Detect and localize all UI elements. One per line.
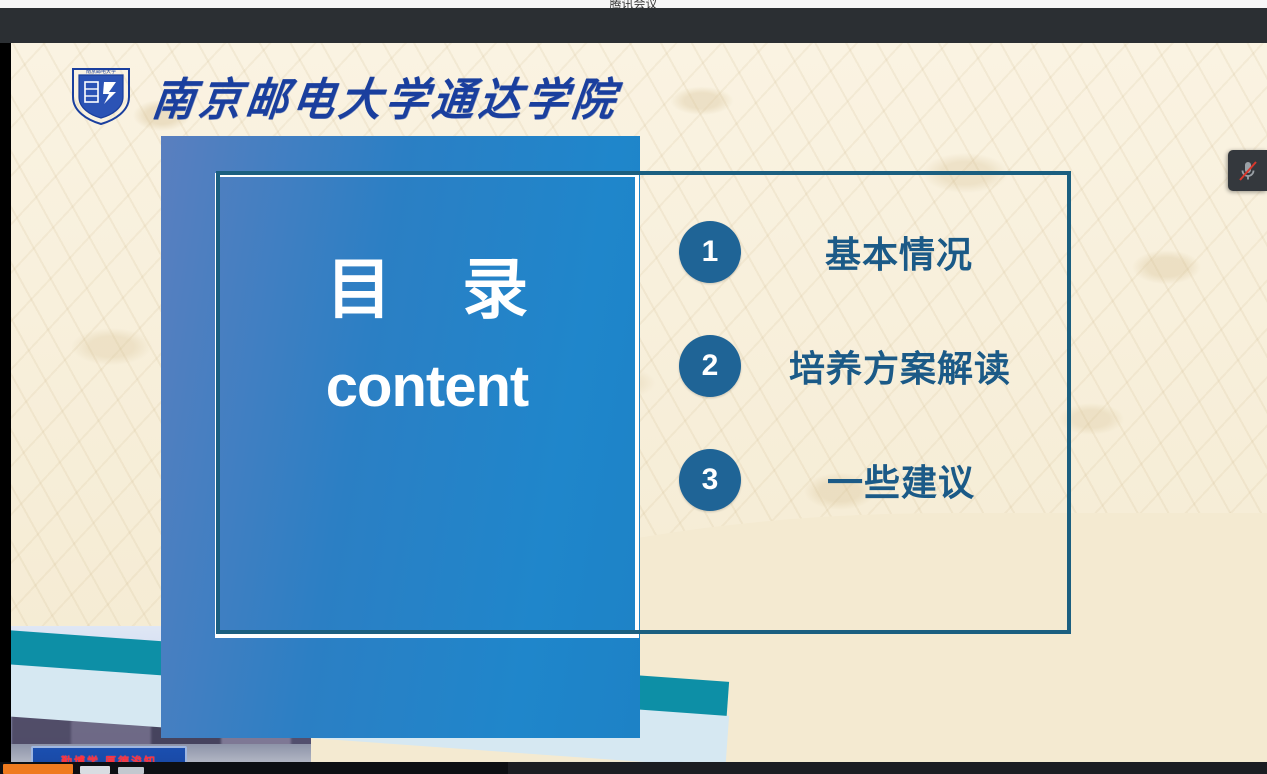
toc-item-1-number: 1 <box>679 221 741 283</box>
toc-item-1-label: 基本情况 <box>825 226 973 278</box>
toc-list: 1 基本情况 2 培养方案解读 3 一些建议 <box>679 195 1079 537</box>
university-crest-icon: 南京邮电大学 <box>63 65 139 127</box>
taskbar-app-icon-3[interactable] <box>118 767 144 774</box>
toc-item-2[interactable]: 2 培养方案解读 <box>679 309 1079 423</box>
toc-item-2-number: 2 <box>679 335 741 397</box>
toc-item-1[interactable]: 1 基本情况 <box>679 195 1079 309</box>
presentation-slide[interactable]: 勤博学 厚德浚知 笃求实 进取创新 严谨 笃学 求是 力行 南京邮电大学 南京邮… <box>11 43 1267 766</box>
taskbar-strip <box>0 762 508 774</box>
app-title: 腾讯会议 <box>0 0 1267 8</box>
app-titlebar: 腾讯会议 <box>0 0 1267 8</box>
svg-text:南京邮电大学: 南京邮电大学 <box>86 68 116 75</box>
microphone-muted-icon <box>1237 159 1259 183</box>
taskbar-app-icon-2[interactable] <box>80 766 110 774</box>
toc-item-3-label: 一些建议 <box>827 454 975 506</box>
toc-panel-inner-frame <box>215 173 639 638</box>
org-title: 南京邮电大学通达学院 <box>149 64 623 129</box>
mic-toggle-button[interactable] <box>1228 150 1267 191</box>
meeting-toolbar[interactable] <box>0 8 1267 43</box>
toc-item-3[interactable]: 3 一些建议 <box>679 423 1079 537</box>
slide-header: 南京邮电大学 南京邮电大学通达学院 <box>63 65 593 127</box>
os-taskbar[interactable] <box>0 762 1267 774</box>
toc-item-2-label: 培养方案解读 <box>789 340 1011 392</box>
toc-item-3-number: 3 <box>679 449 741 511</box>
desktop-backdrop <box>0 43 11 774</box>
taskbar-start-icon[interactable] <box>3 764 73 774</box>
